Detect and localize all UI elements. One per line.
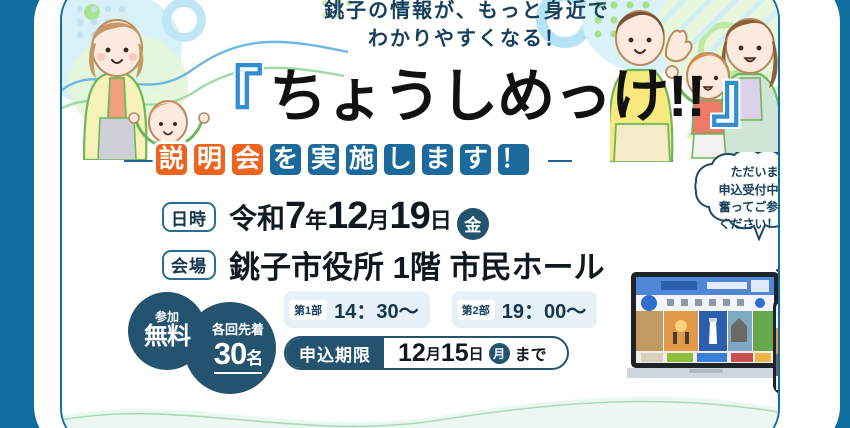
bubble-line4: ください！！ (718, 216, 780, 233)
phone-header-bar (776, 307, 780, 316)
sub-headline-rule-right (548, 160, 572, 162)
deadline-label: 申込期限 (286, 338, 384, 368)
deadline-day-unit: 日 (469, 343, 484, 364)
sub-headline-chip: ま (420, 142, 455, 177)
deadline-month-unit: 月 (426, 343, 441, 364)
sub-headline-chip: 説 (154, 142, 189, 177)
row-sessions: 第1部14：30～第2部19：00～ (284, 291, 597, 328)
datetime-day-num: 19 (389, 195, 429, 237)
tag-datetime: 日時 (162, 202, 216, 232)
site-nav-search-icon (755, 298, 765, 308)
sub-headline-chip: 明 (192, 142, 227, 177)
poster-inner-card: 銚子の情報が、もっと身近で わかりやすくなる！ 『 ちょうしめっけ!! 』 説明… (60, 0, 780, 428)
badge-capacity-number: 30 (214, 336, 246, 371)
sub-headline-chip: ！ (496, 142, 531, 177)
sub-headline: 説明会を実施します！ (154, 142, 531, 177)
deadline-month-num: 12 (398, 339, 426, 368)
sub-headline-chip: 会 (230, 142, 265, 177)
site-nav-logo-icon (641, 295, 657, 311)
sub-headline-chip: 施 (344, 142, 379, 177)
session-time: 14：30～ (334, 295, 419, 324)
datetime-year-unit: 年 (305, 208, 327, 233)
bracket-close: 』 (711, 64, 777, 130)
deadline-value: 12月15日月まで (384, 338, 567, 368)
session-time: 19：00～ (502, 295, 587, 324)
badge-capacity-number-row: 30名 (214, 338, 262, 374)
datetime-month-num: 12 (327, 195, 367, 237)
sub-headline-rule-left (124, 160, 158, 162)
bubble-line3: 奮ってご参加 (719, 199, 780, 216)
phone-nav-logo-icon (779, 318, 780, 326)
badge-free: 参加 無料 (128, 292, 206, 370)
site-logo-block (661, 281, 697, 290)
lead-copy-line1: 銚子の情報が、もっと身近で (324, 0, 610, 22)
tag-venue: 会場 (162, 250, 216, 280)
datetime-month-unit: 月 (367, 208, 389, 233)
datetime-day-unit: 日 (430, 208, 452, 233)
device-mockup (627, 264, 780, 404)
lead-copy-line2: わかりやすくなる！ (267, 26, 667, 54)
speech-bubble-text: ただいま 申込受付中！ 奮ってご参加 ください！！ (672, 152, 780, 252)
phone-nav-bar (776, 316, 780, 328)
datetime-year-num: 7 (285, 195, 305, 237)
session-label: 第1部 (289, 300, 327, 320)
illustration-mother-and-child (70, 0, 210, 160)
row-datetime: 日時 令和7年12月19日金 (162, 195, 489, 240)
speech-bubble: ただいま 申込受付中！ 奮ってご参加 ください！！ (672, 152, 780, 252)
phone-photo-grid (776, 328, 780, 390)
badge-capacity-unit: 名 (246, 349, 262, 368)
bubble-line2: 申込受付中！ (718, 182, 780, 199)
datetime-era: 令和 (229, 203, 285, 234)
sub-headline-chip: 実 (306, 142, 341, 177)
badge-free-main: 無料 (144, 324, 190, 350)
laptop-trackpad (689, 369, 723, 373)
row-deadline: 申込期限 12月15日月まで (284, 336, 569, 370)
site-photo-grid (636, 311, 774, 363)
main-title: ちょうしめっけ!! (269, 68, 705, 126)
sub-headline-chip: を (268, 142, 303, 177)
bubble-line1: ただいま (730, 164, 778, 181)
main-title-row: 『 ちょうしめっけ!! 』 (192, 62, 780, 132)
session-slot: 第1部14：30～ (284, 291, 430, 328)
site-badge-block (751, 280, 769, 292)
session-slot: 第2部19：00～ (452, 291, 598, 328)
venue-value: 銚子市役所 1階 市民ホール (229, 242, 604, 287)
datetime-value: 令和7年12月19日金 (229, 195, 489, 240)
row-venue: 会場 銚子市役所 1階 市民ホール (162, 242, 604, 287)
deadline-weekday-badge: 月 (489, 343, 510, 364)
session-label: 第2部 (457, 300, 495, 320)
deadline-day-num: 15 (441, 339, 469, 368)
lead-copy: 銚子の情報が、もっと身近で わかりやすくなる！ (267, 0, 667, 53)
site-brand-block (707, 282, 747, 289)
bracket-open: 『 (197, 64, 263, 130)
deadline-suffix: まで (515, 341, 547, 365)
sub-headline-chip: し (382, 142, 417, 177)
sub-headline-chip: す (458, 142, 493, 177)
datetime-weekday-badge: 金 (457, 208, 489, 240)
